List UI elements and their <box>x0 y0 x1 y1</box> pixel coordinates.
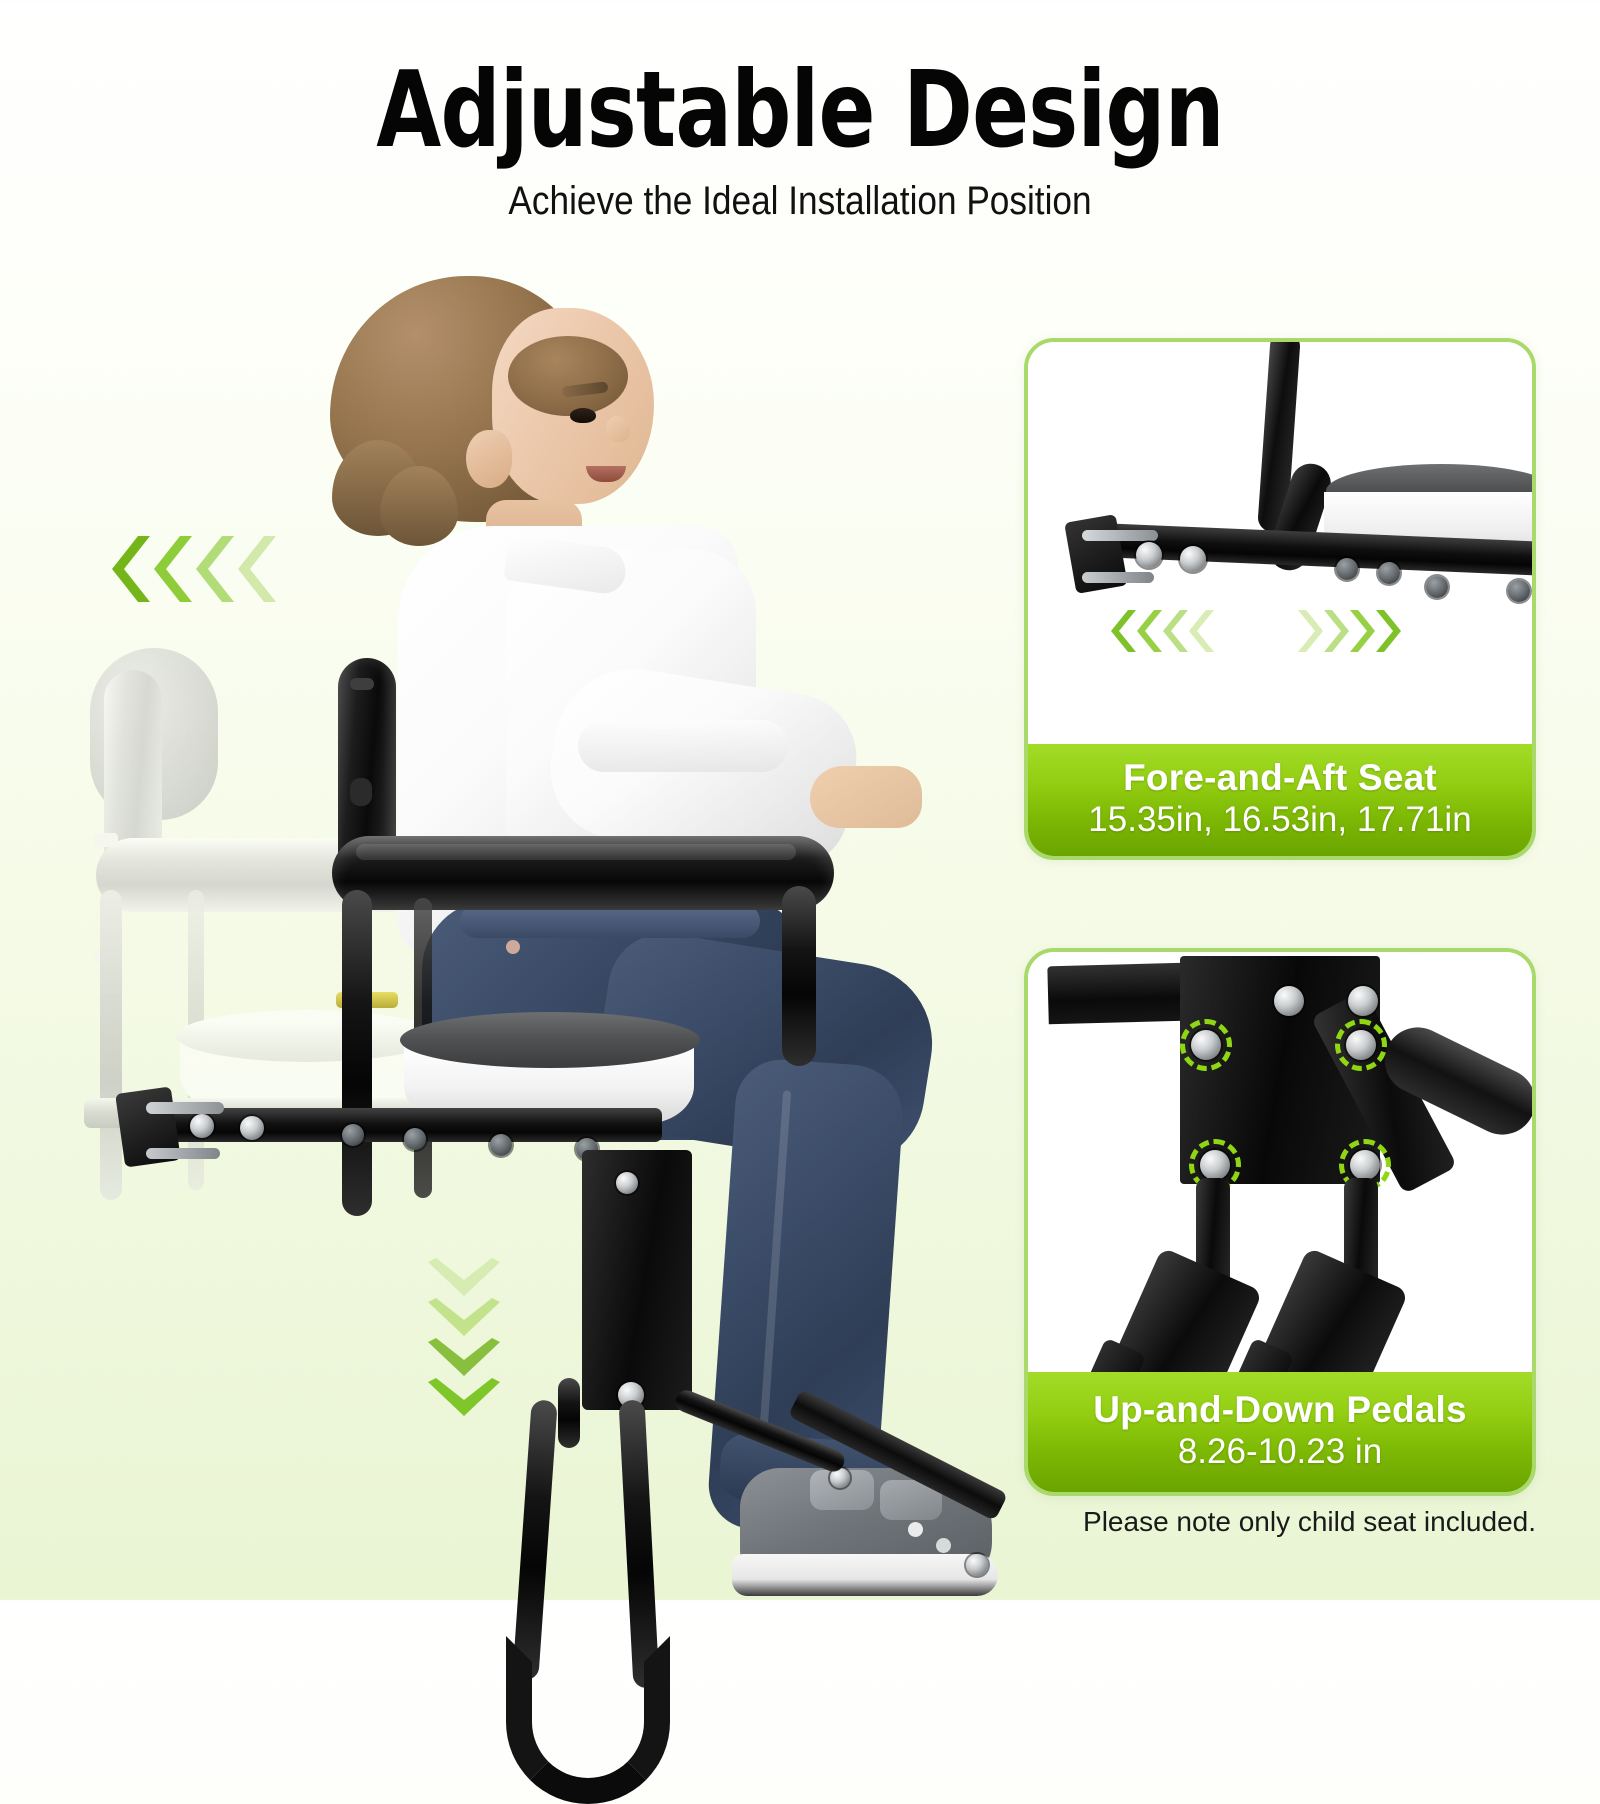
seat-cushion-pad <box>400 1012 700 1068</box>
chevron-right-icon <box>1324 610 1350 652</box>
chevron-left-icon <box>1136 610 1162 652</box>
page-title: Adjustable Design <box>160 58 1440 163</box>
header: Adjustable Design Achieve the Ideal Inst… <box>0 0 1600 224</box>
footnote-disclaimer: Please note only child seat included. <box>0 1506 1536 1538</box>
seat-left-post <box>342 890 372 1216</box>
inset-banner-title: Fore-and-Aft Seat <box>1028 759 1532 798</box>
chevron-left-icon <box>1188 610 1214 652</box>
seat-bar-post <box>782 886 816 1066</box>
bolt-highlight-ring <box>1335 1019 1387 1071</box>
inset-banner-subtitle: 8.26-10.23 in <box>1028 1432 1532 1472</box>
child-ear <box>466 430 512 488</box>
inset-card-fore-aft-seat: Fore-and-Aft Seat 15.35in, 16.53in, 17.7… <box>1024 338 1536 860</box>
strut-hole <box>936 1538 951 1553</box>
inset-arrow-group-left <box>1110 610 1214 652</box>
pedal-bracket-plate <box>582 1150 692 1410</box>
chevron-right-icon <box>1350 610 1376 652</box>
inset-banner-fore-aft: Fore-and-Aft Seat 15.35in, 16.53in, 17.7… <box>1028 744 1532 856</box>
bolt-highlight-ring <box>1180 1019 1232 1071</box>
product-hero-image <box>70 250 1030 1570</box>
chevron-right-icon <box>1376 610 1402 652</box>
chevron-left-icon <box>1110 610 1136 652</box>
child-hand <box>810 766 922 828</box>
inset-banner-title: Up-and-Down Pedals <box>1028 1391 1532 1430</box>
inset-arrow-group-right <box>1298 610 1402 652</box>
page-subtitle: Achieve the Ideal Installation Position <box>96 179 1504 224</box>
chevron-right-icon <box>1298 610 1324 652</box>
pedal-loop-bottom <box>506 1636 670 1804</box>
inset-banner-subtitle: 15.35in, 16.53in, 17.71in <box>1028 800 1532 840</box>
inset-banner-pedals: Up-and-Down Pedals 8.26-10.23 in <box>1028 1372 1532 1492</box>
shoe-sole <box>732 1554 998 1596</box>
chevron-left-icon <box>1162 610 1188 652</box>
inset-card-up-down-pedals: Up-and-Down Pedals 8.26-10.23 in <box>1024 948 1536 1496</box>
